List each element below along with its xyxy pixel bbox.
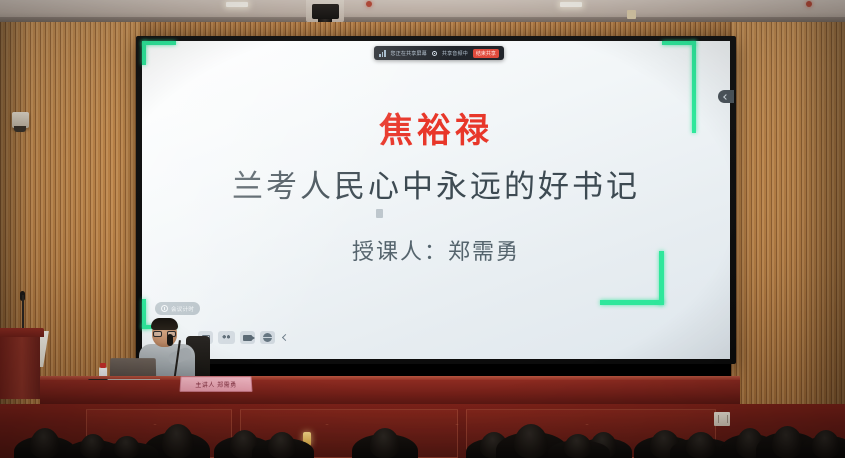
audience-member xyxy=(514,424,548,458)
water-bottle-cap xyxy=(100,363,106,368)
wall-speaker xyxy=(12,112,29,128)
audience-member xyxy=(772,426,803,458)
share-audio-text: 共享音频中 xyxy=(442,50,468,57)
audience-member xyxy=(686,432,716,458)
meeting-control-row[interactable] xyxy=(198,331,291,344)
camera-icon xyxy=(243,335,252,341)
signal-bars-icon xyxy=(379,50,386,57)
participants-button[interactable] xyxy=(218,331,235,344)
stop-share-button[interactable]: 结束共享 xyxy=(473,49,499,58)
wall-switch-plate[interactable] xyxy=(714,412,730,426)
settings-button[interactable] xyxy=(260,331,275,344)
presenter-nameplate: 主讲人 郑需勇 xyxy=(179,376,252,392)
share-status-text: 您正在共享屏幕 xyxy=(391,50,427,57)
audience-member xyxy=(162,424,194,458)
presenter-nameplate-text: 主讲人 郑需勇 xyxy=(195,380,236,389)
projector-lens xyxy=(627,10,636,19)
audience-member xyxy=(370,428,400,458)
slide-presenter: 授课人：郑需勇 xyxy=(142,234,730,266)
collapse-controls-button[interactable] xyxy=(280,331,291,344)
participants-icon xyxy=(222,335,231,341)
audience-member xyxy=(30,428,60,458)
podium-microphone-stem xyxy=(22,295,24,331)
ceiling-indicator-light xyxy=(806,1,812,7)
slide-subtitle: 兰考人民心中永远的好书记 xyxy=(142,161,730,206)
slide-title: 焦裕禄 xyxy=(142,103,730,152)
wood-wall-right xyxy=(731,22,845,410)
camera-button[interactable] xyxy=(240,331,255,344)
audience-member xyxy=(268,432,296,458)
share-status-bar[interactable]: 您正在共享屏幕 共享音频中 结束共享 xyxy=(374,46,504,60)
audio-circle-icon xyxy=(432,51,437,56)
presenter-hair xyxy=(151,318,178,330)
ceiling-light xyxy=(226,2,248,7)
audience-member xyxy=(114,436,140,458)
presenter-microphone-head xyxy=(167,334,173,346)
audience-member xyxy=(812,430,840,458)
audience-member xyxy=(564,434,592,458)
ceiling-indicator-light xyxy=(366,1,372,7)
side-panel-toggle[interactable] xyxy=(718,90,734,103)
meeting-timer-badge[interactable]: 会议计时 xyxy=(155,302,200,315)
projector-body xyxy=(312,4,339,19)
clock-icon xyxy=(161,305,168,312)
globe-icon xyxy=(263,333,272,342)
lecture-hall-scene: 焦裕禄 兰考人民心中永远的好书记 授课人：郑需勇 您正在共享屏幕 共享音频中 结… xyxy=(0,0,845,458)
projection-screen[interactable]: 焦裕禄 兰考人民心中永远的好书记 授课人：郑需勇 您正在共享屏幕 共享音频中 结… xyxy=(142,41,730,359)
text-cursor xyxy=(376,209,383,218)
podium-body xyxy=(0,337,40,399)
meeting-timer-label: 会议计时 xyxy=(171,305,194,313)
ceiling-light xyxy=(560,2,582,7)
podium-top xyxy=(0,328,44,337)
